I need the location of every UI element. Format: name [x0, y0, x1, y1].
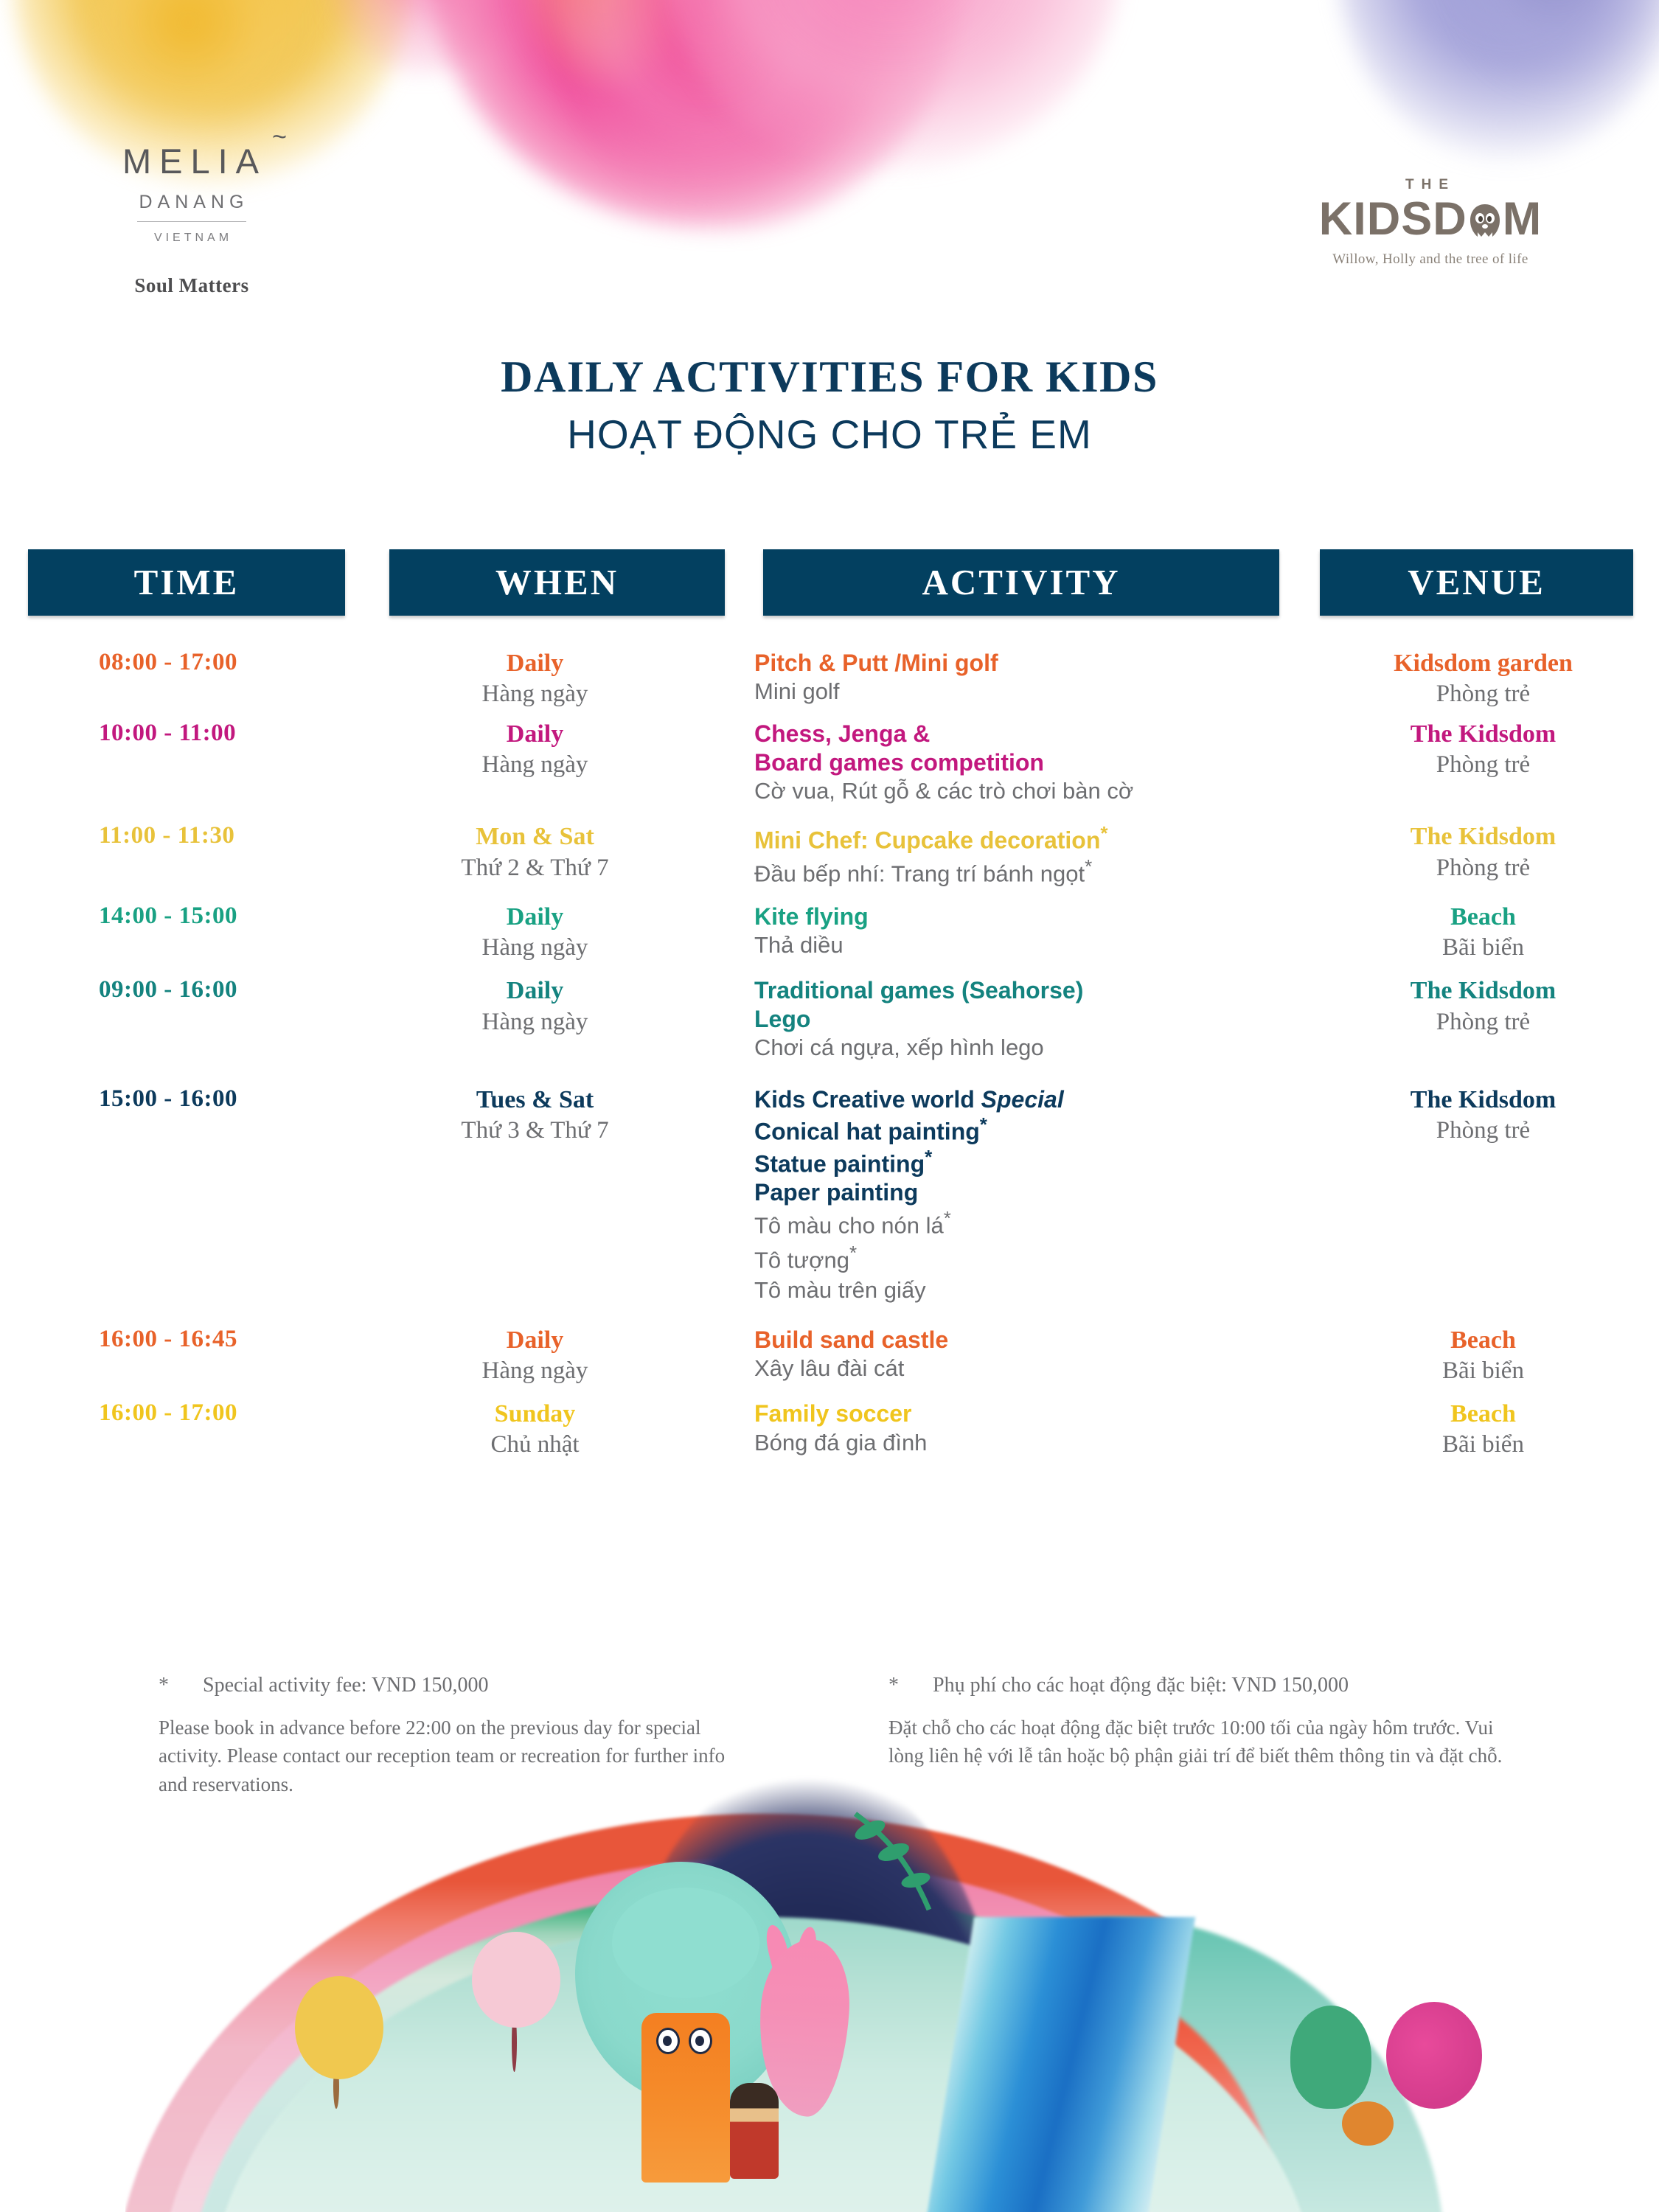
when-english: Daily	[345, 902, 725, 932]
time-value: 15:00 - 16:00	[28, 1085, 345, 1113]
table-row: 15:00 - 16:00Tues & SatThứ 3 & Thứ 7Kids…	[0, 1085, 1659, 1305]
cell-time: 16:00 - 17:00	[0, 1399, 345, 1427]
small-tree-green-right	[1290, 2006, 1371, 2109]
table-row: 16:00 - 16:45DailyHàng ngàyBuild sand ca…	[0, 1326, 1659, 1386]
table-row: 16:00 - 17:00SundayChủ nhậtFamily soccer…	[0, 1399, 1659, 1460]
activity-vietnamese-line: Thả diều	[754, 931, 1307, 960]
footnote-vietnamese-asterisk: *	[888, 1674, 899, 1697]
activity-vietnamese-line: Cờ vua, Rút gỗ & các trò chơi bàn cờ	[754, 776, 1307, 806]
cell-venue: BeachBãi biển	[1307, 1326, 1659, 1386]
mascot-eye-left	[656, 2028, 680, 2054]
small-tree-magenta-right	[1386, 2002, 1482, 2109]
kidsdom-tagline: Willow, Holly and the tree of life	[1276, 251, 1585, 268]
watercolor-blob-purple	[1329, 0, 1659, 168]
kidsdom-wordmark-part2: M	[1503, 196, 1542, 243]
child-figure	[730, 2083, 779, 2179]
asterisk-marker: *	[1100, 822, 1107, 844]
cell-when: DailyHàng ngày	[345, 649, 725, 709]
cell-venue: BeachBãi biển	[1307, 902, 1659, 963]
melia-location: DANANG	[81, 192, 302, 213]
column-header-activity-label: ACTIVITY	[763, 549, 1279, 616]
when-english: Tues & Sat	[345, 1085, 725, 1115]
bottom-illustration	[0, 1755, 1659, 2212]
illustration-mask-left	[0, 1755, 125, 2212]
when-vietnamese: Hàng ngày	[345, 1006, 725, 1037]
time-value: 14:00 - 15:00	[28, 902, 345, 930]
small-tree-yellow	[295, 1976, 383, 2079]
activity-english-line: Board games competition	[754, 748, 1307, 776]
kidsdom-mascot-icon	[1468, 201, 1502, 239]
venue-english: Kidsdom garden	[1307, 649, 1659, 678]
table-row: 08:00 - 17:00DailyHàng ngàyPitch & Putt …	[0, 649, 1659, 709]
cell-when: SundayChủ nhật	[345, 1399, 725, 1460]
activity-vietnamese-line: Mini golf	[754, 677, 1307, 706]
when-vietnamese: Hàng ngày	[345, 1355, 725, 1386]
footnote-vietnamese-fee-line: * Phụ phí cho các hoạt động đặc biệt: VN…	[888, 1674, 1515, 1697]
cell-activity: Chess, Jenga &Board games competitionCờ …	[725, 720, 1307, 806]
activity-vietnamese-line: Đầu bếp nhí: Trang trí bánh ngọt*	[754, 855, 1307, 889]
when-vietnamese: Hàng ngày	[345, 678, 725, 709]
cell-when: Tues & SatThứ 3 & Thứ 7	[345, 1085, 725, 1146]
cell-activity: Mini Chef: Cupcake decoration*Đầu bếp nh…	[725, 822, 1307, 889]
kidsdom-wordmark: KIDSD M	[1276, 196, 1585, 243]
time-value: 11:00 - 11:30	[28, 822, 345, 849]
table-row: 10:00 - 11:00DailyHàng ngàyChess, Jenga …	[0, 720, 1659, 806]
cell-time: 16:00 - 16:45	[0, 1326, 345, 1353]
cell-activity: Kids Creative world SpecialConical hat p…	[725, 1085, 1307, 1305]
page-title: DAILY ACTIVITIES FOR KIDS HOẠT ĐỘNG CHO …	[0, 354, 1659, 458]
column-header-time: TIME	[28, 549, 345, 616]
when-english: Daily	[345, 1326, 725, 1355]
column-header-when: WHEN	[389, 549, 725, 616]
when-english: Mon & Sat	[345, 822, 725, 852]
column-header-venue-label: VENUE	[1320, 549, 1633, 616]
asterisk-marker: *	[980, 1113, 987, 1135]
activity-vietnamese-line: Tô màu cho nón lá*	[754, 1206, 1307, 1241]
table-row: 11:00 - 11:30Mon & SatThứ 2 & Thứ 7Mini …	[0, 822, 1659, 889]
cell-time: 15:00 - 16:00	[0, 1085, 345, 1113]
table-row: 14:00 - 15:00DailyHàng ngàyKite flyingTh…	[0, 902, 1659, 963]
cell-activity: Family soccerBóng đá gia đình	[725, 1399, 1307, 1458]
footnote-english-fee: Special activity fee: VND 150,000	[203, 1674, 489, 1697]
footnote-english-asterisk: *	[159, 1674, 169, 1697]
when-vietnamese: Thứ 3 & Thứ 7	[345, 1115, 725, 1146]
small-tree-pink	[472, 1932, 560, 2028]
when-vietnamese: Hàng ngày	[345, 749, 725, 780]
watercolor-blob-pink-edge	[310, 0, 531, 74]
cell-when: Mon & SatThứ 2 & Thứ 7	[345, 822, 725, 883]
activity-english-line: Statue painting*	[754, 1146, 1307, 1178]
venue-english: Beach	[1307, 1399, 1659, 1429]
cell-venue: BeachBãi biển	[1307, 1399, 1659, 1460]
activity-english-line: Kite flying	[754, 902, 1307, 931]
venue-english: The Kidsdom	[1307, 822, 1659, 852]
cell-activity: Traditional games (Seahorse)LegoChơi cá …	[725, 976, 1307, 1062]
kidsdom-the-text: THE	[1276, 177, 1585, 193]
cell-venue: The KidsdomPhòng trẻ	[1307, 822, 1659, 883]
time-value: 16:00 - 16:45	[28, 1326, 345, 1353]
small-bush-orange-right	[1342, 2101, 1394, 2146]
cell-when: DailyHàng ngày	[345, 976, 725, 1037]
activity-english-line: Conical hat painting*	[754, 1113, 1307, 1146]
venue-vietnamese: Phòng trẻ	[1307, 852, 1659, 883]
melia-country: VIETNAM	[81, 232, 302, 245]
venue-vietnamese: Bãi biển	[1307, 1355, 1659, 1386]
footnote-english-fee-line: * Special activity fee: VND 150,000	[159, 1674, 741, 1697]
cell-activity: Kite flyingThả diều	[725, 902, 1307, 961]
venue-vietnamese: Bãi biển	[1307, 932, 1659, 963]
activity-english-line: Mini Chef: Cupcake decoration*	[754, 822, 1307, 855]
venue-vietnamese: Phòng trẻ	[1307, 1006, 1659, 1037]
activity-vietnamese-line: Xây lâu đài cát	[754, 1354, 1307, 1383]
venue-english: The Kidsdom	[1307, 1085, 1659, 1115]
venue-vietnamese: Phòng trẻ	[1307, 749, 1659, 780]
footnote-vietnamese-fee: Phụ phí cho các hoạt động đặc biệt: VND …	[933, 1674, 1349, 1697]
when-english: Daily	[345, 976, 725, 1006]
activity-english-line: Kids Creative world Special	[754, 1085, 1307, 1113]
column-header-venue: VENUE	[1320, 549, 1633, 616]
venue-english: The Kidsdom	[1307, 976, 1659, 1006]
melia-tilde-accent: ~	[272, 125, 295, 150]
poster-page: MELIA ~ DANANG VIETNAM Soul Matters THE …	[0, 0, 1659, 2212]
when-vietnamese: Hàng ngày	[345, 932, 725, 963]
cell-time: 14:00 - 15:00	[0, 902, 345, 930]
kidsdom-wordmark-part1: KIDSD	[1319, 196, 1467, 243]
cell-when: DailyHàng ngày	[345, 720, 725, 780]
cell-venue: The KidsdomPhòng trẻ	[1307, 976, 1659, 1037]
when-english: Daily	[345, 649, 725, 678]
cell-activity: Build sand castleXây lâu đài cát	[725, 1326, 1307, 1384]
melia-divider	[137, 221, 246, 222]
activity-vietnamese-line: Tô màu trên giấy	[754, 1276, 1307, 1305]
asterisk-marker: *	[944, 1207, 951, 1229]
cell-time: 10:00 - 11:00	[0, 720, 345, 747]
cell-when: DailyHàng ngày	[345, 1326, 725, 1386]
activity-english-line: Lego	[754, 1005, 1307, 1033]
activity-english-line: Pitch & Putt /Mini golf	[754, 649, 1307, 677]
when-vietnamese: Chủ nhật	[345, 1429, 725, 1460]
melia-tagline: Soul Matters	[81, 274, 302, 297]
activity-english-line: Paper painting	[754, 1178, 1307, 1206]
kidsdom-logo: THE KIDSD M Willow, Holly and the tree o…	[1276, 177, 1585, 268]
cell-time: 11:00 - 11:30	[0, 822, 345, 849]
activity-special-tag: Special	[981, 1086, 1064, 1113]
mascot-eye-right	[689, 2028, 712, 2054]
watercolor-blob-pink-light	[560, 0, 870, 206]
asterisk-marker: *	[849, 1242, 857, 1264]
big-tree-canopy-top	[612, 1888, 759, 1998]
watercolor-blob-orange	[516, 0, 693, 88]
cell-activity: Pitch & Putt /Mini golfMini golf	[725, 649, 1307, 707]
venue-vietnamese: Phòng trẻ	[1307, 678, 1659, 709]
venue-english: Beach	[1307, 1326, 1659, 1355]
column-header-time-label: TIME	[28, 549, 345, 616]
time-value: 08:00 - 17:00	[28, 649, 345, 676]
activities-table: 08:00 - 17:00DailyHàng ngàyPitch & Putt …	[0, 649, 1659, 1461]
venue-english: The Kidsdom	[1307, 720, 1659, 749]
time-value: 16:00 - 17:00	[28, 1399, 345, 1427]
watercolor-blob-pink-main	[425, 0, 970, 233]
cell-venue: The KidsdomPhòng trẻ	[1307, 720, 1659, 780]
table-row: 09:00 - 16:00DailyHàng ngàyTraditional g…	[0, 976, 1659, 1062]
vine-leaves-icon	[848, 1806, 959, 1917]
activity-english-line: Chess, Jenga &	[754, 720, 1307, 748]
activity-vietnamese-line: Chơi cá ngựa, xếp hình lego	[754, 1033, 1307, 1062]
column-header-when-label: WHEN	[389, 549, 725, 616]
time-value: 10:00 - 11:00	[28, 720, 345, 747]
orange-mascot-face	[656, 2028, 715, 2072]
asterisk-marker: *	[925, 1146, 932, 1168]
activity-vietnamese-line: Bóng đá gia đình	[754, 1428, 1307, 1458]
melia-wordmark: MELIA ~	[81, 144, 302, 178]
activity-english-line: Traditional games (Seahorse)	[754, 976, 1307, 1004]
watercolor-blob-pink-soft	[664, 0, 1121, 170]
cell-when: DailyHàng ngày	[345, 902, 725, 963]
venue-english: Beach	[1307, 902, 1659, 932]
page-title-vietnamese: HOẠT ĐỘNG CHO TRẺ EM	[0, 411, 1659, 458]
column-header-activity: ACTIVITY	[763, 549, 1279, 616]
melia-wordmark-text: MELIA	[122, 142, 267, 181]
when-english: Sunday	[345, 1399, 725, 1429]
asterisk-marker: *	[1085, 855, 1092, 877]
melia-logo: MELIA ~ DANANG VIETNAM Soul Matters	[81, 144, 302, 297]
illustration-mask-right	[1526, 1755, 1659, 2212]
activity-english-line: Family soccer	[754, 1399, 1307, 1427]
watercolor-blob-purple-inner	[1445, 0, 1659, 96]
cell-time: 08:00 - 17:00	[0, 649, 345, 676]
cell-venue: Kidsdom gardenPhòng trẻ	[1307, 649, 1659, 709]
activity-vietnamese-line: Tô tượng*	[754, 1241, 1307, 1276]
activity-english-line: Build sand castle	[754, 1326, 1307, 1354]
venue-vietnamese: Phòng trẻ	[1307, 1115, 1659, 1146]
time-value: 09:00 - 16:00	[28, 976, 345, 1004]
when-english: Daily	[345, 720, 725, 749]
page-title-english: DAILY ACTIVITIES FOR KIDS	[0, 354, 1659, 400]
venue-vietnamese: Bãi biển	[1307, 1429, 1659, 1460]
cell-time: 09:00 - 16:00	[0, 976, 345, 1004]
cell-venue: The KidsdomPhòng trẻ	[1307, 1085, 1659, 1146]
when-vietnamese: Thứ 2 & Thứ 7	[345, 852, 725, 883]
